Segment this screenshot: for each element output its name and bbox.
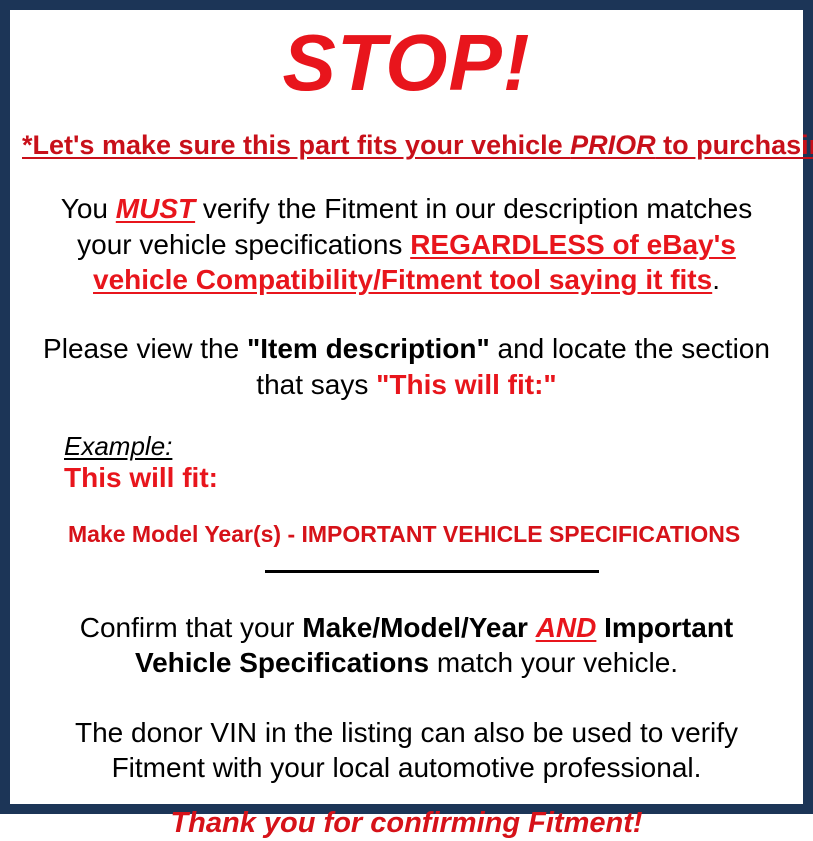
example-fit-heading: This will fit: <box>64 462 791 494</box>
example-label-row: Example: <box>64 432 791 461</box>
subtitle-banner: *Let's make sure this part fits your veh… <box>22 130 791 161</box>
section-divider <box>265 570 599 573</box>
closing-thank-you: Thank you for confirming Fitment! <box>22 807 791 840</box>
must-emphasis: MUST <box>116 193 195 224</box>
make-model-year-label: Make/Model/Year <box>302 612 535 643</box>
item-description-label: "Item description" <box>247 333 490 364</box>
and-emphasis: AND <box>536 612 597 643</box>
must-verify-paragraph: You MUST verify the Fitment in our descr… <box>22 191 791 297</box>
subtitle-tail: to purchasing* <box>656 130 813 160</box>
subtitle-emphasis-prior: PRIOR <box>570 130 656 160</box>
notice-content: STOP! *Let's make sure this part fits yo… <box>10 10 803 804</box>
donor-vin-paragraph: The donor VIN in the listing can also be… <box>22 715 791 786</box>
this-will-fit-quote: "This will fit:" <box>376 369 557 400</box>
example-block: Example: This will fit: Make Model Year(… <box>22 432 791 548</box>
must-text-part3: . <box>712 264 720 295</box>
example-spec-line: Make Model Year(s) - IMPORTANT VEHICLE S… <box>64 521 791 549</box>
subtitle-lead: *Let's make sure this part fits your veh… <box>22 130 570 160</box>
confirm-paragraph: Confirm that your Make/Model/Year AND Im… <box>22 610 791 681</box>
confirm-text-part3: match your vehicle. <box>429 647 678 678</box>
please-text-part1: Please view the <box>43 333 247 364</box>
fitment-notice-card: STOP! *Let's make sure this part fits yo… <box>0 0 813 814</box>
page-title: STOP! <box>22 20 791 106</box>
example-label: Example: <box>64 432 172 461</box>
must-text-part1: You <box>61 193 116 224</box>
section-divider-wrap <box>22 570 791 582</box>
confirm-text-part1: Confirm that your <box>80 612 303 643</box>
item-description-paragraph: Please view the "Item description" and l… <box>22 331 791 402</box>
